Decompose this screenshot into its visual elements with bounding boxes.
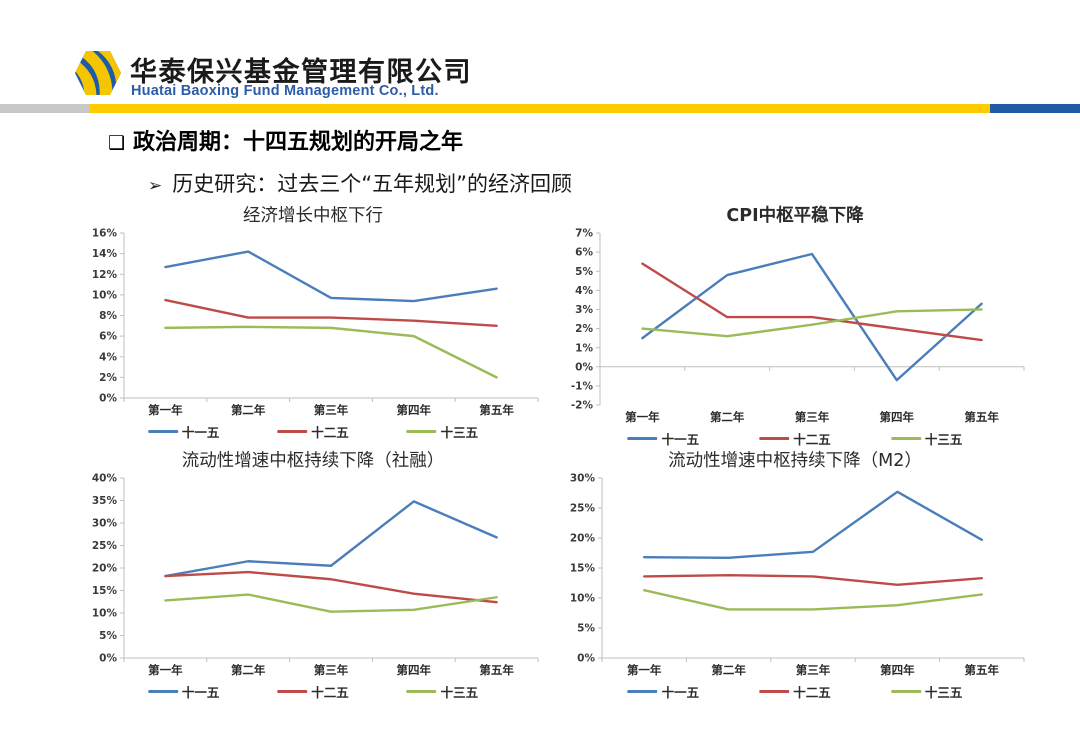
legend-color-swatch <box>407 430 437 433</box>
square-bullet-icon: ❑ <box>108 132 125 154</box>
chart-plot-area: 0%5%10%15%20%25%30%35%40% <box>82 472 544 662</box>
svg-text:16%: 16% <box>92 228 118 240</box>
chart-legend: 十一五十二五十三五 <box>560 429 1030 451</box>
legend-item[interactable]: 十一五 <box>148 682 220 701</box>
legend-label: 十二五 <box>793 429 831 448</box>
svg-text:1%: 1% <box>575 342 593 354</box>
legend-color-swatch <box>148 430 178 433</box>
x-axis-tick-label: 第二年 <box>711 662 746 678</box>
chart-legend: 十一五十二五十三五 <box>560 682 1030 704</box>
chart-title: 流动性增速中枢持续下降（社融） <box>82 450 544 472</box>
legend-color-swatch <box>759 437 789 440</box>
legend-item[interactable]: 十一五 <box>148 422 220 441</box>
chart-x-axis-labels: 第一年第二年第三年第四年第五年 <box>560 662 1030 682</box>
svg-text:0%: 0% <box>99 653 117 662</box>
slide-heading-text: 政治周期：十四五规划的开局之年 <box>133 130 463 155</box>
svg-text:10%: 10% <box>570 593 596 605</box>
svg-text:2%: 2% <box>575 323 593 335</box>
x-axis-tick-label: 第四年 <box>397 402 432 418</box>
svg-text:6%: 6% <box>99 331 117 343</box>
x-axis-tick-label: 第三年 <box>796 662 831 678</box>
slide-root: 华泰保兴基金管理有限公司 Huatai Baoxing Fund Managem… <box>0 0 1080 734</box>
svg-text:14%: 14% <box>92 248 118 260</box>
svg-text:3%: 3% <box>575 304 593 316</box>
svg-text:5%: 5% <box>577 623 595 635</box>
legend-label: 十二五 <box>311 422 349 441</box>
legend-item[interactable]: 十三五 <box>407 682 479 701</box>
legend-color-swatch <box>277 690 307 693</box>
legend-color-swatch <box>628 690 658 693</box>
brand-name-en: Huatai Baoxing Fund Management Co., Ltd. <box>131 83 439 99</box>
legend-item[interactable]: 十二五 <box>759 429 831 448</box>
x-axis-tick-label: 第四年 <box>880 409 915 425</box>
svg-text:8%: 8% <box>99 310 117 322</box>
legend-label: 十三五 <box>925 429 963 448</box>
x-axis-tick-label: 第二年 <box>710 409 745 425</box>
slide-subheading: ➢历史研究：过去三个“五年规划”的经济回顾 <box>148 168 572 198</box>
svg-text:12%: 12% <box>92 269 118 281</box>
x-axis-tick-label: 第五年 <box>479 662 514 678</box>
legend-item[interactable]: 十二五 <box>759 682 831 701</box>
svg-text:25%: 25% <box>570 503 596 515</box>
chart-title: 经济增长中枢下行 <box>82 205 544 227</box>
chart-plot-area: 0%2%4%6%8%10%12%14%16% <box>82 227 544 402</box>
rule-segment-gray <box>0 104 90 113</box>
svg-text:0%: 0% <box>99 393 117 402</box>
legend-label: 十一五 <box>662 682 700 701</box>
svg-text:10%: 10% <box>92 608 118 620</box>
huatai-baoxing-hexagon-logo-icon <box>74 50 122 96</box>
x-axis-tick-label: 第四年 <box>397 662 432 678</box>
x-axis-tick-label: 第二年 <box>231 662 266 678</box>
svg-text:40%: 40% <box>92 473 118 485</box>
svg-text:5%: 5% <box>99 630 117 642</box>
x-axis-tick-label: 第一年 <box>625 409 660 425</box>
svg-text:25%: 25% <box>92 540 118 552</box>
legend-color-swatch <box>277 430 307 433</box>
chart-x-axis-labels: 第一年第二年第三年第四年第五年 <box>82 662 544 682</box>
svg-text:0%: 0% <box>575 361 593 373</box>
legend-label: 十一五 <box>182 422 220 441</box>
rule-segment-blue <box>990 104 1080 113</box>
svg-text:7%: 7% <box>575 228 593 240</box>
x-axis-tick-label: 第三年 <box>314 402 349 418</box>
svg-text:30%: 30% <box>92 518 118 530</box>
x-axis-tick-label: 第一年 <box>627 662 662 678</box>
chart-x-axis-labels: 第一年第二年第三年第四年第五年 <box>82 402 544 422</box>
chart-grid: 经济增长中枢下行 0%2%4%6%8%10%12%14%16% 第一年第二年第三… <box>0 205 1080 725</box>
svg-text:15%: 15% <box>92 585 118 597</box>
legend-item[interactable]: 十三五 <box>407 422 479 441</box>
legend-color-swatch <box>148 690 178 693</box>
x-axis-tick-label: 第三年 <box>314 662 349 678</box>
svg-text:0%: 0% <box>577 653 595 662</box>
chart-cpi: CPI中枢平稳下降 -2%-1%0%1%2%3%4%5%6%7% 第一年第二年第… <box>560 205 1030 450</box>
svg-text:4%: 4% <box>99 351 117 363</box>
legend-label: 十三五 <box>441 422 479 441</box>
legend-label: 十二五 <box>311 682 349 701</box>
slide-header: 华泰保兴基金管理有限公司 Huatai Baoxing Fund Managem… <box>0 0 1080 100</box>
legend-label: 十一五 <box>662 429 700 448</box>
chart-plot-area: -2%-1%0%1%2%3%4%5%6%7% <box>560 227 1030 409</box>
svg-text:4%: 4% <box>575 285 593 297</box>
chart-title: 流动性增速中枢持续下降（M2） <box>560 450 1030 472</box>
svg-text:35%: 35% <box>92 495 118 507</box>
x-axis-tick-label: 第一年 <box>148 402 183 418</box>
arrow-bullet-icon: ➢ <box>148 176 162 196</box>
legend-item[interactable]: 十二五 <box>277 422 349 441</box>
legend-item[interactable]: 十二五 <box>277 682 349 701</box>
legend-label: 十三五 <box>441 682 479 701</box>
svg-text:20%: 20% <box>570 533 596 545</box>
chart-economic-growth: 经济增长中枢下行 0%2%4%6%8%10%12%14%16% 第一年第二年第三… <box>82 205 544 450</box>
legend-label: 十二五 <box>793 682 831 701</box>
legend-item[interactable]: 十三五 <box>891 682 963 701</box>
chart-liquidity-shehui-rongzi: 流动性增速中枢持续下降（社融） 0%5%10%15%20%25%30%35%40… <box>82 450 544 715</box>
slide-heading: ❑政治周期：十四五规划的开局之年 <box>108 124 463 156</box>
svg-text:2%: 2% <box>99 372 117 384</box>
x-axis-tick-label: 第五年 <box>965 662 1000 678</box>
svg-text:6%: 6% <box>575 247 593 259</box>
legend-item[interactable]: 十一五 <box>628 429 700 448</box>
chart-legend: 十一五十二五十三五 <box>82 422 544 444</box>
slide-subheading-text: 历史研究：过去三个“五年规划”的经济回顾 <box>172 172 572 196</box>
x-axis-tick-label: 第二年 <box>231 402 266 418</box>
svg-text:30%: 30% <box>570 473 596 485</box>
chart-liquidity-m2: 流动性增速中枢持续下降（M2） 0%5%10%15%20%25%30% 第一年第… <box>560 450 1030 715</box>
legend-color-swatch <box>891 690 921 693</box>
legend-item[interactable]: 十三五 <box>891 429 963 448</box>
header-divider-rule <box>0 104 1080 113</box>
svg-text:-2%: -2% <box>571 400 594 409</box>
legend-color-swatch <box>407 690 437 693</box>
svg-text:15%: 15% <box>570 563 596 575</box>
x-axis-tick-label: 第三年 <box>795 409 830 425</box>
chart-plot-area: 0%5%10%15%20%25%30% <box>560 472 1030 662</box>
x-axis-tick-label: 第五年 <box>964 409 999 425</box>
chart-title: CPI中枢平稳下降 <box>560 205 1030 227</box>
legend-item[interactable]: 十一五 <box>628 682 700 701</box>
legend-label: 十一五 <box>182 682 220 701</box>
legend-label: 十三五 <box>925 682 963 701</box>
rule-segment-gold <box>90 104 990 113</box>
svg-text:20%: 20% <box>92 563 118 575</box>
x-axis-tick-label: 第四年 <box>880 662 915 678</box>
svg-text:10%: 10% <box>92 289 118 301</box>
x-axis-tick-label: 第五年 <box>479 402 514 418</box>
svg-text:-1%: -1% <box>571 380 594 392</box>
legend-color-swatch <box>891 437 921 440</box>
x-axis-tick-label: 第一年 <box>148 662 183 678</box>
legend-color-swatch <box>628 437 658 440</box>
legend-color-swatch <box>759 690 789 693</box>
chart-x-axis-labels: 第一年第二年第三年第四年第五年 <box>560 409 1030 429</box>
chart-legend: 十一五十二五十三五 <box>82 682 544 704</box>
svg-text:5%: 5% <box>575 266 593 278</box>
